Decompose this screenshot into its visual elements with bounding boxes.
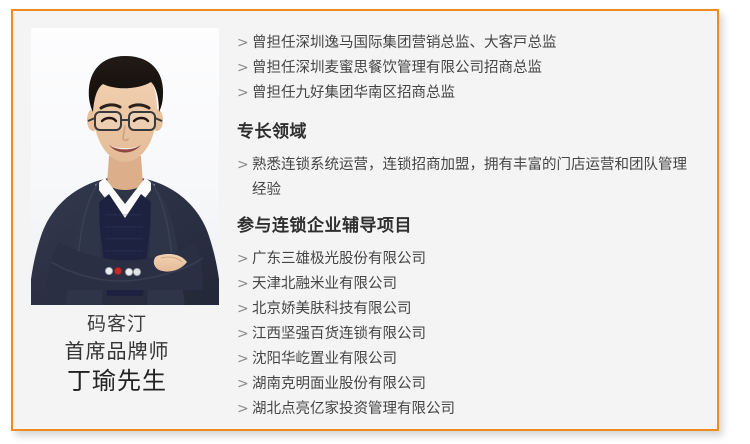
experience-list: > 曾担任深圳逸马国际集团营销总监、大客戸总监 > 曾担任深圳麦蜜思餐饮管理有限…	[237, 31, 699, 106]
profile-left-column: 码客汀 首席品牌师 丁瑜先生	[13, 11, 221, 429]
profile-title: 首席品牌师	[13, 337, 221, 365]
list-item-label: 江西坚强百货连锁有限公司	[252, 322, 699, 347]
chevron-right-icon: >	[237, 153, 252, 178]
chevron-right-icon: >	[237, 272, 252, 297]
list-item-label: 北京娇美肤科技有限公司	[252, 297, 699, 322]
list-item-label: 曾担任深圳逸马国际集团营销总监、大客戸总监	[252, 31, 699, 56]
list-item: > 熟悉连锁系统运营，连锁招商加盟，拥有丰富的门店运营和团队管理经验	[237, 153, 699, 203]
list-item: > 曾担任深圳逸马国际集团营销总监、大客戸总监	[237, 31, 699, 56]
list-item-label: 天津北融米业有限公司	[252, 272, 699, 297]
list-item: > 沈阳华屹置业有限公司	[237, 347, 699, 372]
section-heading-projects: 参与连锁企业辅导项目	[237, 214, 699, 238]
chevron-right-icon: >	[237, 81, 252, 106]
list-item-label: 湖北点亮亿家投资管理有限公司	[252, 397, 699, 422]
chevron-right-icon: >	[237, 297, 252, 322]
profile-name-block: 码客汀 首席品牌师 丁瑜先生	[13, 311, 221, 397]
chevron-right-icon: >	[237, 397, 252, 422]
chevron-right-icon: >	[237, 372, 252, 397]
list-item: > 曾担任深圳麦蜜思餐饮管理有限公司招商总监	[237, 56, 699, 81]
chevron-right-icon: >	[237, 322, 252, 347]
list-item: > 广东三雄极光股份有限公司	[237, 247, 699, 272]
portrait-illustration	[31, 28, 219, 305]
list-item-label: 曾担任深圳麦蜜思餐饮管理有限公司招商总监	[252, 56, 699, 81]
list-item: > 天津北融米业有限公司	[237, 272, 699, 297]
list-item-label: 湖南克明面业股份有限公司	[252, 372, 699, 397]
list-item: > 曾担任九好集团华南区招商总监	[237, 81, 699, 106]
list-item: > 江西坚强百货连锁有限公司	[237, 322, 699, 347]
profile-photo	[31, 28, 219, 305]
projects-list: > 广东三雄极光股份有限公司 > 天津北融米业有限公司 > 北京娇美肤科技有限公…	[237, 247, 699, 422]
chevron-right-icon: >	[237, 247, 252, 272]
expertise-list: > 熟悉连锁系统运营，连锁招商加盟，拥有丰富的门店运营和团队管理经验	[237, 153, 699, 203]
list-item: > 湖南克明面业股份有限公司	[237, 372, 699, 397]
chevron-right-icon: >	[237, 31, 252, 56]
profile-brand: 码客汀	[13, 311, 221, 337]
chevron-right-icon: >	[237, 56, 252, 81]
list-item: > 北京娇美肤科技有限公司	[237, 297, 699, 322]
section-heading-expertise: 专长领域	[237, 120, 699, 144]
profile-card: 码客汀 首席品牌师 丁瑜先生 > 曾担任深圳逸马国际集团营销总监、大客戸总监 >…	[11, 9, 719, 431]
list-item-label: 广东三雄极光股份有限公司	[252, 247, 699, 272]
chevron-right-icon: >	[237, 347, 252, 372]
list-item-label: 沈阳华屹置业有限公司	[252, 347, 699, 372]
profile-right-column: > 曾担任深圳逸马国际集团营销总监、大客戸总监 > 曾担任深圳麦蜜思餐饮管理有限…	[221, 11, 717, 429]
profile-card-page: 码客汀 首席品牌师 丁瑜先生 > 曾担任深圳逸马国际集团营销总监、大客戸总监 >…	[0, 0, 750, 444]
list-item: > 湖北点亮亿家投资管理有限公司	[237, 397, 699, 422]
list-item-label: 曾担任九好集团华南区招商总监	[252, 81, 699, 106]
profile-name: 丁瑜先生	[13, 365, 221, 397]
list-item-label: 熟悉连锁系统运营，连锁招商加盟，拥有丰富的门店运营和团队管理经验	[252, 153, 699, 203]
